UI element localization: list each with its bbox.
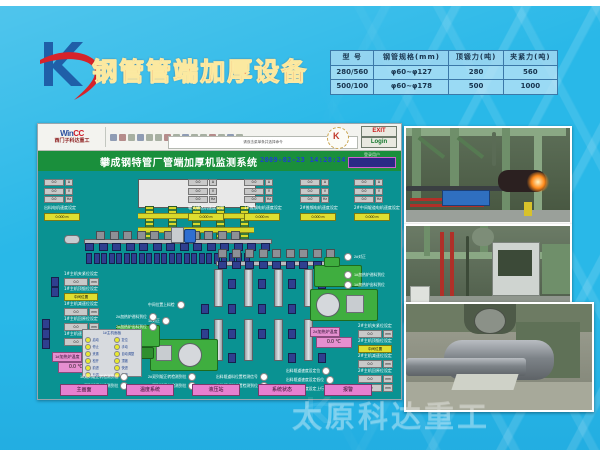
temp-value-2[interactable]: 0.0 ℃	[316, 337, 352, 348]
param-value[interactable]: 0.0	[64, 278, 88, 286]
panel-led	[85, 351, 91, 357]
io-rows: 0.0A 0.0V 0.0Hz	[188, 179, 224, 203]
panel-led	[114, 358, 120, 364]
indicator-label: 出料辊道速度设定位	[286, 369, 320, 374]
photo-pipe	[466, 236, 469, 302]
clamp-icon	[218, 249, 227, 258]
param-label: 1#主机减速位设定	[64, 301, 99, 307]
param-label: 1#主机回原位设定	[64, 316, 99, 322]
clamp-icon	[218, 231, 227, 240]
roller-icon	[139, 253, 145, 264]
status-lamp	[149, 323, 157, 331]
clamp-icon	[150, 231, 159, 240]
io-value[interactable]: 0.0	[244, 196, 264, 203]
indicator-label: 出料辊道料位置检测信号	[216, 375, 258, 380]
right-param-row: 2#主机回原位设定 0.0mm	[358, 368, 393, 383]
table-header-cell: 钢管规格(mm)	[374, 51, 449, 66]
io-value[interactable]: 0.0	[44, 188, 64, 195]
roller-icon	[109, 253, 115, 264]
io-unit: A	[375, 179, 383, 186]
valve-icon	[201, 329, 209, 339]
pump-icon	[324, 257, 340, 267]
io-row: 0.0A	[300, 179, 338, 186]
io-value[interactable]: 0.0	[244, 188, 264, 195]
panel-item-label: 顶锻	[122, 358, 128, 363]
roller-icon	[101, 253, 107, 264]
bottom-indicator-row: 出料辊道速度设定低位	[286, 376, 334, 384]
clamp-icon	[231, 231, 240, 240]
photo-window	[498, 250, 532, 276]
clock-icon	[327, 127, 349, 149]
roller-icon	[86, 253, 92, 264]
param-value-group: 中间位置	[64, 293, 98, 301]
slide-root: 钢管管端加厚设备 型 号 钢管规格(mm) 顶锻力(吨) 夹紧力(吨) 280/…	[0, 0, 600, 450]
temp-label-2: 2#加热炉温度	[310, 327, 340, 337]
clamp-icon	[259, 249, 268, 258]
status-lamp	[120, 373, 128, 381]
panel-row[interactable]: 启动	[83, 336, 112, 343]
io-row: 0.0A	[354, 179, 400, 186]
hmi-titlebar: 攀成钢特管厂管端加厚机监测系统 2009-02-23 14:28:24 登录用户	[38, 151, 401, 171]
valve-icon	[42, 319, 50, 329]
current-user-value[interactable]	[348, 157, 396, 168]
io-unit: Hz	[65, 196, 73, 203]
status-lamp	[149, 313, 157, 321]
panel-led	[85, 358, 91, 364]
io-group: 0.0A 0.0V 0.0Hz 辊式输送机速度设定 0.000 m	[188, 179, 224, 221]
page-title: 钢管管端加厚设备	[92, 52, 308, 88]
indicator-row: 中间位置上料检	[148, 301, 185, 309]
io-row: 0.0A	[188, 179, 224, 186]
photo-red-pipe	[440, 232, 444, 302]
panel-row[interactable]: 复位	[112, 336, 141, 343]
io-value[interactable]: 0.0	[188, 196, 208, 203]
bottom-indicator-row: 2#双列辊正转检测到位	[148, 373, 196, 381]
roller-icon	[146, 253, 152, 264]
table-cell: 280/560	[331, 65, 374, 80]
param-value-group: 0.0mm	[358, 375, 393, 383]
photo-duct	[492, 132, 496, 166]
io-value[interactable]: 0.0	[354, 179, 374, 186]
table-cell: 560	[503, 65, 557, 80]
clamp-icon	[96, 231, 105, 240]
roller-icon	[207, 243, 216, 251]
io-rows: 0.0A 0.0V 0.0Hz	[300, 179, 338, 203]
status-lamp	[322, 367, 330, 375]
table-header-cell: 型 号	[331, 51, 374, 66]
io-rows: 0.0A 0.0V 0.0Hz	[354, 179, 400, 203]
roller-icon	[169, 253, 175, 264]
wincc-logo: WinCC 西门子科达重工	[38, 130, 103, 144]
io-group-label: 辊式输送机速度设定	[188, 205, 224, 211]
io-row: 0.0V	[44, 188, 80, 195]
io-group-setpoint[interactable]: 0.000 m	[44, 213, 80, 221]
param-value-group: 中间位置	[358, 345, 392, 353]
indicator-label: 1#加热炉出料到位	[354, 283, 385, 288]
io-rows: 0.0A 0.0V 0.0Hz	[44, 179, 80, 203]
right-param-row: 2#主机顶锻位设定 中间位置	[358, 338, 392, 353]
photo-cylinder-head	[472, 228, 494, 246]
panel-led	[85, 344, 91, 350]
io-row: 0.0Hz	[300, 196, 338, 203]
main-machine-1-block	[156, 345, 172, 361]
valve-icon	[258, 329, 266, 339]
table-header-cell: 顶锻力(吨)	[449, 51, 503, 66]
panel-led	[114, 351, 120, 357]
main-machine-2-flywheel	[316, 293, 340, 317]
indicator-label: 2#加热炉进料到位	[116, 315, 147, 320]
roller-icon	[126, 243, 135, 251]
param-unit: mm	[383, 384, 393, 392]
indicator-row: 2#对正	[344, 253, 366, 261]
io-unit: A	[321, 179, 329, 186]
param-label: 2#主机减速位设定	[358, 353, 393, 359]
roller-icon	[180, 243, 189, 251]
panel-row[interactable]: 顶锻	[112, 357, 141, 364]
clamp-icon	[204, 231, 213, 240]
roller-icon	[99, 243, 108, 251]
status-lamp	[162, 317, 170, 325]
io-value[interactable]: 0.0	[44, 179, 64, 186]
bottom-indicator-row: 出料辊道速度设定位	[286, 367, 330, 375]
panel-led	[114, 344, 120, 350]
param-value[interactable]: 中间位置	[64, 293, 98, 301]
param-value[interactable]: 0.0	[358, 375, 382, 383]
motor-housing-icon	[171, 227, 184, 243]
table-cell: 500	[449, 80, 503, 95]
status-lamp	[344, 281, 352, 289]
panel-item-label: 快进	[122, 365, 128, 370]
clamp-icon	[299, 249, 308, 258]
status-lamp	[344, 253, 352, 261]
roller-icon	[232, 261, 241, 269]
login-button[interactable]: Login	[361, 137, 397, 148]
io-group-setpoint[interactable]: 0.000 m	[244, 213, 280, 221]
hydraulic-cylinder	[214, 269, 223, 307]
roller-icon	[94, 253, 100, 264]
panel-row[interactable]: 手动	[112, 343, 141, 350]
param-value[interactable]: 0.0	[358, 360, 382, 368]
panel-item-label: 松开	[93, 358, 99, 363]
hydraulic-cylinder	[244, 319, 253, 361]
photo-tool	[451, 374, 518, 390]
valve-icon	[258, 279, 266, 289]
photo-floor	[406, 210, 570, 222]
io-group: 0.0A 0.0V 0.0Hz 2#推钢电机速度设定 0.000 m	[300, 179, 338, 221]
control-panel-1[interactable]: 1#主机面板 启动 停止 夹紧 松开 前进 后退 复位 手动 自动调整 顶锻	[82, 329, 142, 377]
param-value-group: 0.0mm	[64, 308, 99, 316]
param-value-group: 0.0mm	[358, 360, 393, 368]
io-row: 0.0Hz	[354, 196, 400, 203]
valve-icon	[228, 353, 236, 363]
valve-icon	[288, 279, 296, 289]
io-group-setpoint[interactable]: 0.000 m	[300, 213, 336, 221]
io-row: 0.0V	[354, 188, 400, 195]
param-unit: mm	[89, 308, 99, 316]
table-cell: φ60~φ127	[374, 65, 449, 80]
table-header-row: 型 号 钢管规格(mm) 顶锻力(吨) 夹紧力(吨)	[331, 51, 558, 66]
valve-icon	[318, 353, 326, 363]
roller-icon	[193, 243, 202, 251]
indicator-label: 中间位置上料检	[148, 303, 175, 308]
hydraulic-cylinder	[274, 319, 283, 361]
roller-icon	[206, 253, 212, 264]
valve-icon	[258, 304, 266, 314]
table-header-cell: 夹紧力(吨)	[503, 51, 557, 66]
param-value-group: 0.0mm	[358, 330, 393, 338]
valve-icon	[228, 279, 236, 289]
valve-icon	[228, 304, 236, 314]
right-param-row: 2#主机夹紧位设定 0.0mm	[358, 323, 393, 338]
spec-table: 型 号 钢管规格(mm) 顶锻力(吨) 夹紧力(吨) 280/560 φ60~φ…	[330, 50, 558, 95]
copy-icon[interactable]	[128, 134, 135, 141]
valve-icon	[288, 329, 296, 339]
io-value[interactable]: 0.0	[300, 188, 320, 195]
io-unit: A	[209, 179, 217, 186]
hmi-toolbar: WinCC 西门子科达重工 请双击菜单条并选择	[38, 124, 401, 151]
hmi-window: WinCC 西门子科达重工 请双击菜单条并选择	[37, 123, 402, 400]
wincc-product-name: WinCC	[41, 130, 103, 138]
indicator-row: 1#加热炉出料到位	[344, 281, 385, 289]
table-row: 280/560 φ60~φ127 280 560	[331, 65, 558, 80]
io-unit: V	[321, 188, 329, 195]
valve-icon	[201, 304, 209, 314]
indicator-row: 2#加热炉进料到位	[116, 313, 157, 321]
right-param-row: 2#主机减速位设定 0.0mm	[358, 353, 393, 368]
io-unit: Hz	[321, 196, 329, 203]
print-icon[interactable]	[119, 134, 126, 141]
current-user-box: 登录用户	[348, 152, 396, 168]
valve-icon	[288, 304, 296, 314]
roller-icon	[124, 253, 130, 264]
io-unit: A	[65, 179, 73, 186]
paste-icon[interactable]	[137, 134, 144, 141]
table-cell: 500/100	[331, 80, 374, 95]
valve-icon	[288, 353, 296, 363]
photo-frame	[542, 244, 570, 294]
photo-blue-machine	[442, 190, 490, 206]
panel-row[interactable]: 快进	[112, 364, 141, 371]
io-value[interactable]: 0.0	[300, 196, 320, 203]
panel-row[interactable]: 停止	[83, 343, 112, 350]
io-value[interactable]: 0.0	[354, 196, 374, 203]
roller-icon	[85, 243, 94, 251]
indicator-label: 2#对正	[354, 255, 366, 260]
io-group-label: 2#推钢电机速度设定	[300, 205, 338, 211]
nav-button-hydraulic[interactable]: 液压站	[192, 384, 240, 396]
roller-icon	[199, 253, 205, 264]
io-unit: V	[209, 188, 217, 195]
clamp-row-left	[96, 231, 240, 240]
main-machine-2-block	[346, 295, 364, 313]
io-group: 0.0A 0.0V 0.0Hz 出料电机速度设定 0.000 m	[44, 179, 80, 221]
io-row: 0.0V	[244, 188, 282, 195]
param-unit: mm	[89, 278, 99, 286]
param-label: 1#主机夹紧位设定	[64, 271, 99, 277]
hmi-system-title: 攀成钢特管厂管端加厚机监测系统	[100, 154, 258, 169]
panel-item-label: 停止	[93, 344, 99, 349]
redo-icon[interactable]	[155, 134, 162, 141]
panel-led	[114, 337, 120, 343]
panel-item-label: 夹紧	[93, 351, 99, 356]
clamp-icon	[272, 249, 281, 258]
io-row: 0.0Hz	[188, 196, 224, 203]
table-cell: φ60~φ178	[374, 80, 449, 95]
roller-icon	[245, 261, 254, 269]
io-unit: Hz	[209, 196, 217, 203]
param-value-group: 0.0mm	[64, 278, 99, 286]
roller-icon	[191, 253, 197, 264]
save-icon[interactable]	[110, 134, 117, 141]
hmi-process-canvas: 0.0A 0.0V 0.0Hz 出料电机速度设定 0.000 m 0.0A 0.…	[38, 171, 401, 400]
io-value[interactable]: 0.0	[188, 179, 208, 186]
panel-item-label: 启动	[93, 337, 99, 342]
panel-item-label: 前进	[93, 365, 99, 370]
io-unit: Hz	[375, 196, 383, 203]
clamp-icon	[245, 249, 254, 258]
photo-glow	[526, 172, 550, 192]
valve-icon	[42, 329, 50, 339]
valve-icon	[51, 277, 59, 287]
clamp-icon	[110, 231, 119, 240]
clamp-icon	[123, 231, 132, 240]
io-value[interactable]: 0.0	[354, 188, 374, 195]
panel-led	[85, 365, 91, 371]
main-machine-1-flywheel	[178, 343, 202, 367]
indicator-label: 出料辊道速度设定低位	[286, 378, 324, 383]
hydraulic-cylinder	[274, 269, 283, 307]
param-label: 2#主机顶锻位设定	[358, 338, 392, 344]
roller-icon	[176, 253, 182, 264]
table-row: 500/100 φ60~φ178 500 1000	[331, 80, 558, 95]
io-unit: Hz	[265, 196, 273, 203]
panel-item-label: 自动调整	[122, 351, 135, 356]
table-cell: 1000	[503, 80, 557, 95]
clamp-row-right	[218, 249, 335, 258]
undo-icon[interactable]	[146, 134, 153, 141]
roller-icon	[116, 253, 122, 264]
io-row: 0.0A	[244, 179, 282, 186]
bottom-indicator-row: 1#双列辊正转检测到位	[80, 373, 128, 381]
photo-furnace-exit-hot-pipe	[404, 126, 572, 224]
hmi-datetime: 2009-02-23 14:28:24	[260, 156, 346, 164]
nav-button-temperature[interactable]: 温度系统	[126, 384, 174, 396]
panel-row[interactable]: 自动调整	[112, 350, 141, 357]
roller-icon	[139, 243, 148, 251]
status-lamp	[326, 376, 334, 384]
status-lamp	[260, 373, 268, 381]
left-param-row: 1#主机顶锻位设定 中间位置	[64, 286, 98, 301]
gearbox-icon	[184, 229, 196, 243]
hydraulic-cylinder	[244, 269, 253, 307]
roller-icon	[259, 261, 268, 269]
roller-icon	[286, 261, 295, 269]
param-value[interactable]: 0.0	[358, 330, 382, 338]
indicator-row: 1#加热炉进料到位	[344, 271, 385, 279]
indicator-label: 1#加热炉进料到位	[354, 273, 385, 278]
io-group: 0.0A 0.0V 0.0Hz 1#推钢电机速度设定 0.000 m	[244, 179, 282, 221]
valve-icon	[51, 287, 59, 297]
io-group: 0.0A 0.0V 0.0Hz 2#中间辊道电机速度设定 0.000 m	[354, 179, 400, 221]
panel-row[interactable]: 夹紧	[83, 350, 112, 357]
clamp-icon	[313, 249, 322, 258]
roller-icon	[154, 253, 160, 264]
panel-item-label: 复位	[122, 337, 128, 342]
roller-icon	[218, 261, 227, 269]
drive-motor-icon	[64, 235, 80, 244]
indicator-label: 2#双列辊正转检测到位	[148, 375, 186, 380]
param-value[interactable]: 中间位置	[358, 345, 392, 353]
bottom-indicator-row: 出料辊道料位置检测信号	[216, 373, 268, 381]
panel-row[interactable]: 松开	[83, 357, 112, 364]
io-row: 0.0V	[300, 188, 338, 195]
panel-led	[114, 365, 120, 371]
io-rows: 0.0A 0.0V 0.0Hz	[244, 179, 282, 203]
io-unit: V	[375, 188, 383, 195]
clamp-icon	[137, 231, 146, 240]
roller-icon	[153, 243, 162, 251]
io-unit: A	[265, 179, 273, 186]
valve-icon	[228, 329, 236, 339]
status-lamp	[188, 373, 196, 381]
param-value[interactable]: 0.0	[64, 308, 88, 316]
status-lamp	[177, 301, 185, 309]
photo-column	[424, 226, 430, 256]
exit-button[interactable]: EXIT	[361, 126, 397, 137]
photo-yellow-post	[524, 202, 532, 216]
toolbar-divider	[105, 127, 106, 147]
roller-icon	[166, 243, 175, 251]
roller-icon	[112, 243, 121, 251]
param-unit: mm	[383, 330, 393, 338]
io-row: 0.0V	[188, 188, 224, 195]
io-row: 0.0Hz	[244, 196, 282, 203]
io-group-label: 出料电机速度设定	[44, 205, 80, 211]
io-group-setpoint[interactable]: 0.000 m	[354, 213, 390, 221]
hydraulic-cylinder	[304, 319, 313, 361]
roller-icon	[131, 253, 137, 264]
param-unit: mm	[383, 375, 393, 383]
io-value[interactable]: 0.0	[244, 179, 264, 186]
panel-led	[85, 337, 91, 343]
param-label: 2#主机夹紧位设定	[358, 323, 393, 329]
wincc-product-sub: 西门子科达重工	[41, 139, 103, 144]
valve-icon	[42, 339, 50, 349]
roller-icon	[161, 253, 167, 264]
photo-red-pipe	[450, 232, 454, 302]
io-value[interactable]: 0.0	[300, 179, 320, 186]
watermark-text: 太原科达重工	[292, 392, 490, 436]
table-cell: 280	[449, 65, 503, 80]
io-row: 0.0Hz	[44, 196, 80, 203]
io-value[interactable]: 0.0	[44, 196, 64, 203]
photo-chuck	[474, 308, 506, 334]
photo-beam	[406, 128, 566, 136]
indicator-label: 1#双列辊正转检测到位	[80, 375, 118, 380]
status-lamp	[344, 271, 352, 279]
param-unit: mm	[383, 360, 393, 368]
param-label: 1#主机顶锻位设定	[64, 286, 98, 292]
io-group-label: 2#中间辊道电机速度设定	[354, 205, 400, 211]
panel-row[interactable]: 前进	[83, 364, 112, 371]
io-group-setpoint[interactable]: 0.000 m	[188, 213, 224, 221]
panel-item-label: 手动	[122, 344, 128, 349]
nav-button-main[interactable]: 主画面	[60, 384, 108, 396]
left-param-row: 1#主机夹紧位设定 0.0mm	[64, 271, 99, 286]
io-value[interactable]: 0.0	[188, 188, 208, 195]
clamp-icon	[232, 249, 241, 258]
param-label: 2#主机回原位设定	[358, 368, 393, 374]
